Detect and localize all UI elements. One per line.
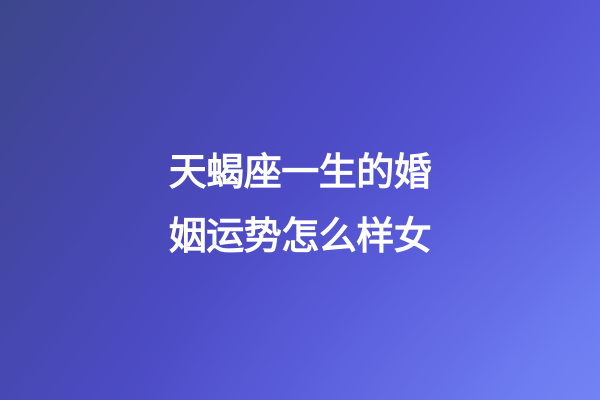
title-line-1: 天蝎座一生的婚 [169, 140, 432, 204]
title-line-2: 姻运势怎么样女 [169, 204, 432, 268]
title-card: 天蝎座一生的婚 姻运势怎么样女 [0, 0, 600, 400]
title-lines: 天蝎座一生的婚 姻运势怎么样女 [169, 140, 432, 268]
page-title: 天蝎座一生的婚 姻运势怎么样女 [0, 0, 600, 400]
